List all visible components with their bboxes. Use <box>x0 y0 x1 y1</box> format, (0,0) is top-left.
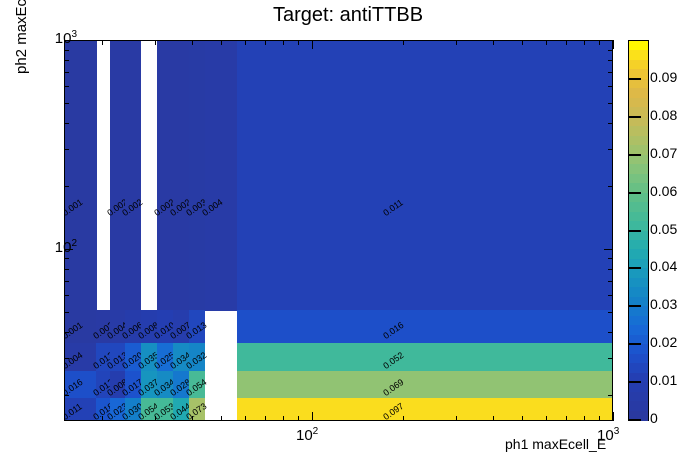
colorbar-tick <box>628 78 641 80</box>
colorbar-tick <box>628 305 641 307</box>
x-tick-top <box>456 40 457 45</box>
x-tick-top <box>155 40 156 45</box>
heatmap-cell <box>189 343 206 372</box>
y-tick-right <box>608 72 613 73</box>
x-tick <box>546 416 547 421</box>
y-tick-right <box>608 269 613 270</box>
x-tick-top <box>192 40 193 45</box>
x-tick-top <box>613 40 614 49</box>
x-tick-top <box>283 40 284 45</box>
heatmap-cell <box>110 41 126 311</box>
heatmap-cell <box>237 343 612 372</box>
y-tick-right <box>608 123 613 124</box>
heatmap-cell <box>96 343 111 372</box>
x-tick-top <box>298 40 299 45</box>
heatmap-cell <box>125 343 142 372</box>
heatmap-cell <box>65 371 97 399</box>
x-tick <box>192 416 193 421</box>
x-tick <box>566 416 567 421</box>
colorbar-tick <box>628 154 641 156</box>
colorbar-tick <box>628 267 641 269</box>
heatmap-cell <box>141 371 158 399</box>
chart-title: Target: antiTTBB <box>0 4 696 27</box>
y-tick <box>64 103 69 104</box>
x-tick <box>245 416 246 421</box>
colorbar-tick <box>628 230 641 232</box>
x-tick-top <box>312 40 313 49</box>
heatmap-cell <box>65 398 97 420</box>
colorbar-tick-label: 0.04 <box>650 258 677 274</box>
y-tick-right <box>608 86 613 87</box>
x-axis-label: ph1 maxEcell_E <box>505 436 606 452</box>
colorbar-tick-label: 0.03 <box>650 296 677 312</box>
colorbar-tick-label: 0.06 <box>650 183 677 199</box>
y-tick-right <box>608 103 613 104</box>
y-tick-label: 102 <box>55 238 77 256</box>
x-tick <box>155 416 156 421</box>
y-tick <box>64 395 69 396</box>
y-tick <box>64 72 69 73</box>
heatmap-cell <box>189 41 206 311</box>
x-tick <box>265 416 266 421</box>
heatmap-cell <box>189 310 206 344</box>
y-tick-right <box>608 60 613 61</box>
y-axis-label: ph2 maxEcell_E <box>13 0 30 74</box>
heatmap-cell <box>237 371 612 399</box>
x-tick-top <box>221 40 222 45</box>
heatmap-cell <box>110 343 126 372</box>
x-tick <box>312 412 313 421</box>
heatmap-cell <box>173 310 190 344</box>
heatmap-cell <box>65 343 97 372</box>
heatmap-cell <box>157 41 174 311</box>
x-tick <box>283 416 284 421</box>
heatmap-cell <box>141 310 158 344</box>
heatmap-cell <box>237 41 612 311</box>
heatmap-cell <box>110 371 126 399</box>
y-tick-right <box>608 149 613 150</box>
y-tick-right <box>608 312 613 313</box>
colorbar-tick <box>628 419 641 421</box>
heatmap-cell <box>189 371 206 399</box>
heatmap-cell <box>96 398 111 420</box>
x-tick <box>456 416 457 421</box>
colorbar-tick-label: 0 <box>650 410 658 426</box>
y-tick-label: 103 <box>55 29 77 47</box>
y-tick <box>64 60 69 61</box>
x-tick-top <box>403 40 404 45</box>
heatmap-cell <box>96 371 111 399</box>
y-tick <box>64 358 69 359</box>
y-tick-right <box>608 281 613 282</box>
heatmap-cell <box>157 310 174 344</box>
colorbar-tick-label: 0.07 <box>650 145 677 161</box>
x-tick-top <box>265 40 266 45</box>
y-tick-right <box>608 295 613 296</box>
heatmap-cell <box>157 343 174 372</box>
x-tick <box>522 416 523 421</box>
colorbar-tick-label: 0.09 <box>650 69 677 85</box>
x-tick-top <box>566 40 567 45</box>
colorbar-tick-label: 0.05 <box>650 221 677 237</box>
heatmap-cell <box>141 343 158 372</box>
chart-root: Target: antiTTBB ph2 maxEcell_E 0.0010.0… <box>0 0 696 472</box>
heatmap-cell <box>173 398 190 420</box>
colorbar-tick <box>628 381 641 383</box>
y-tick <box>64 123 69 124</box>
x-tick-top <box>245 40 246 45</box>
heatmap-cell <box>173 41 190 311</box>
x-tick <box>613 412 614 421</box>
heatmap-cell <box>237 310 612 344</box>
y-tick-right <box>608 332 613 333</box>
x-tick <box>102 416 103 421</box>
heatmap-cell <box>125 398 142 420</box>
heatmap-cell <box>173 343 190 372</box>
heatmap-plot-area: 0.0010.0020.0020.0020.0020.0030.0040.011… <box>64 40 613 421</box>
y-tick <box>64 258 69 259</box>
heatmap-cell <box>237 398 612 420</box>
x-tick-top <box>599 40 600 45</box>
x-tick-top <box>493 40 494 45</box>
x-tick-top <box>522 40 523 45</box>
x-tick-label: 102 <box>296 426 318 444</box>
colorbar-tick-label: 0.01 <box>650 372 677 388</box>
heatmap-cell <box>110 398 126 420</box>
x-tick <box>221 416 222 421</box>
heatmap-cell <box>157 371 174 399</box>
heatmap-cell <box>65 41 97 311</box>
x-tick <box>298 416 299 421</box>
heatmap-cell <box>205 41 238 311</box>
x-tick-top <box>546 40 547 45</box>
x-tick-top <box>584 40 585 45</box>
y-tick-right <box>608 50 613 51</box>
y-tick <box>64 332 69 333</box>
y-tick <box>64 312 69 313</box>
y-tick <box>64 50 69 51</box>
colorbar-tick-label: 0.08 <box>650 107 677 123</box>
y-tick <box>64 295 69 296</box>
y-tick <box>64 281 69 282</box>
colorbar-tick <box>628 116 641 118</box>
y-tick <box>64 149 69 150</box>
colorbar-tick <box>628 192 641 194</box>
heatmap-cell <box>96 310 111 344</box>
y-tick <box>64 186 69 187</box>
y-tick <box>64 269 69 270</box>
x-tick <box>493 416 494 421</box>
colorbar-tick <box>628 343 641 345</box>
heatmap-cell <box>125 41 142 311</box>
y-tick-right <box>608 358 613 359</box>
y-tick <box>64 86 69 87</box>
x-tick <box>599 416 600 421</box>
heatmap-cell <box>173 371 190 399</box>
x-tick-top <box>102 40 103 45</box>
heatmap-cell <box>65 310 97 344</box>
y-tick-right <box>604 40 613 41</box>
y-tick-right <box>608 186 613 187</box>
y-tick-right <box>604 249 613 250</box>
heatmap-cell <box>110 310 126 344</box>
heatmap-cells: 0.0010.0020.0020.0020.0020.0030.0040.011… <box>65 41 612 420</box>
x-tick <box>403 416 404 421</box>
heatmap-cell <box>157 398 174 420</box>
y-tick-right <box>608 395 613 396</box>
heatmap-cell <box>125 371 142 399</box>
y-tick-right <box>608 258 613 259</box>
heatmap-cell <box>125 310 142 344</box>
x-tick <box>584 416 585 421</box>
colorbar-tick-label: 0.02 <box>650 334 677 350</box>
